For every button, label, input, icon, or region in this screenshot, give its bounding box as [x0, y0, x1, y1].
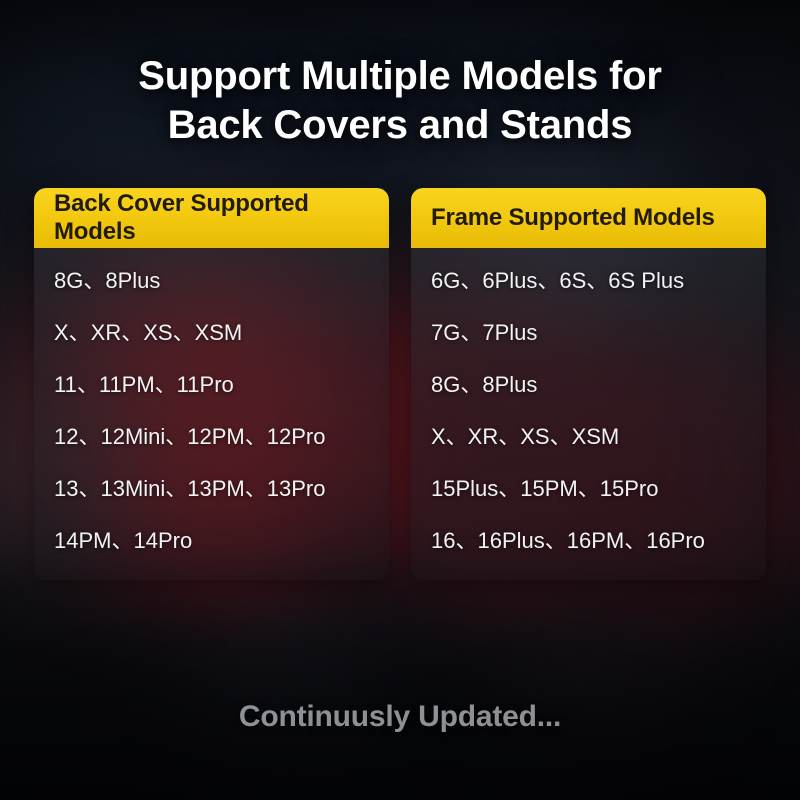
frame-card-header-label: Frame Supported Models	[431, 204, 715, 232]
list-item: 13、13Mini、13PM、13Pro	[54, 478, 389, 500]
list-item: X、XR、XS、XSM	[54, 322, 389, 344]
back-cover-model-list: 8G、8Plus X、XR、XS、XSM 11、11PM、11Pro 12、12…	[34, 248, 389, 552]
promo-graphic: Support Multiple Models for Back Covers …	[0, 0, 800, 800]
frame-model-list: 6G、6Plus、6S、6S Plus 7G、7Plus 8G、8Plus X、…	[411, 248, 766, 552]
back-cover-card-header-label: Back Cover Supported Models	[54, 190, 389, 246]
back-cover-models-card: Back Cover Supported Models 8G、8Plus X、X…	[34, 188, 389, 580]
page-title: Support Multiple Models for Back Covers …	[0, 52, 800, 150]
footer-note: Continuusly Updated...	[0, 700, 800, 734]
frame-card-header: Frame Supported Models	[411, 188, 766, 248]
list-item: 14PM、14Pro	[54, 530, 389, 552]
back-cover-card-header: Back Cover Supported Models	[34, 188, 389, 248]
list-item: X、XR、XS、XSM	[431, 426, 766, 448]
list-item: 15Plus、15PM、15Pro	[431, 478, 766, 500]
list-item: 7G、7Plus	[431, 322, 766, 344]
list-item: 8G、8Plus	[431, 374, 766, 396]
list-item: 11、11PM、11Pro	[54, 374, 389, 396]
list-item: 8G、8Plus	[54, 270, 389, 292]
frame-models-card: Frame Supported Models 6G、6Plus、6S、6S Pl…	[411, 188, 766, 580]
list-item: 12、12Mini、12PM、12Pro	[54, 426, 389, 448]
list-item: 16、16Plus、16PM、16Pro	[431, 530, 766, 552]
list-item: 6G、6Plus、6S、6S Plus	[431, 270, 766, 292]
